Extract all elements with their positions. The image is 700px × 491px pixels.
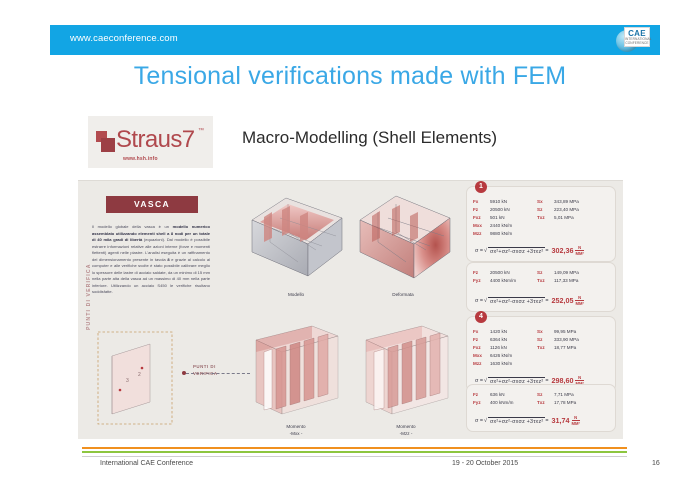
unit-denominator: MM² xyxy=(572,420,580,426)
radical-icon: √ xyxy=(484,248,487,254)
value-key: Sz xyxy=(537,391,554,399)
result-values-1: Fx5910 kN Sx343,89 MPa Fz20500 kN Sz223,… xyxy=(473,198,611,237)
value-key: Mzz xyxy=(473,230,490,238)
desc-part-1: Il modello globale della vasca è un xyxy=(92,224,173,229)
value-row: Fxz501 kN Txz5,01 MPa xyxy=(473,214,611,222)
formula-equals: = xyxy=(545,378,548,384)
value-key: Fxz xyxy=(473,214,490,222)
value-key: Txz xyxy=(537,277,554,285)
footer-page-number: 16 xyxy=(652,460,660,467)
formula-lhs: σ = xyxy=(475,418,483,424)
result-formula-4: σ = √ σx²+σz²-σxσz +3τxz² = 31,74 N MM² xyxy=(475,416,611,426)
value-number: 343,89 MPa xyxy=(554,198,579,206)
value-number: 17,78 MPa xyxy=(554,399,576,407)
value-number: 20500 kN xyxy=(490,206,510,214)
brand-website: www.hsh.info xyxy=(123,156,158,162)
footer-rule-green xyxy=(82,451,627,453)
value-key: Fz xyxy=(473,206,490,214)
value-number: 1126 kN xyxy=(490,344,507,352)
value-number: 18,77 MPa xyxy=(554,344,576,352)
value-key: Sx xyxy=(537,328,554,336)
value-row: Mxx2440 kN/m xyxy=(473,222,611,230)
value-row: Mzz1630 kN/m xyxy=(473,360,611,368)
cae-logo-box: CAE INTERNATIONAL CONFERENCE xyxy=(624,27,650,47)
unit-denominator: MM² xyxy=(575,300,583,306)
value-row: Fyz4400 kNm/m Txz117,33 MPa xyxy=(473,277,611,285)
formula-radicand: σx²+σz²-σxσz +3τxz² xyxy=(488,417,545,425)
value-row: Mxx6426 kN/m xyxy=(473,352,611,360)
value-key: Sz xyxy=(537,269,554,277)
caption-line-2: -Mxx - xyxy=(290,431,303,436)
figure-model-caption: Modello xyxy=(246,292,346,299)
footer-rule-gray xyxy=(82,456,627,457)
value-number: 333,90 MPa xyxy=(554,336,579,344)
straus7-logo: Straus7 ™ www.hsh.info xyxy=(88,116,213,168)
figure-moment-mzz-caption: Momento -Mzz - xyxy=(360,424,452,438)
schematic-diagram: 3 2 xyxy=(96,330,174,426)
value-key: Mxx xyxy=(473,352,490,360)
formula-lhs: σ = xyxy=(475,248,483,254)
slide: www.caeconference.com CAE INTERNATIONAL … xyxy=(0,0,700,491)
callout-punti-verifica: PUNTI DI VERIFICA xyxy=(193,364,218,377)
value-key: Sz xyxy=(537,336,554,344)
callout-line-1: PUNTI DI xyxy=(193,364,216,369)
caption-line-1: Modello xyxy=(288,292,304,297)
value-number: 5,01 MPa xyxy=(554,214,574,222)
formula-equals: = xyxy=(545,248,548,254)
value-number: 117,33 MPa xyxy=(554,277,578,285)
value-key: Fx xyxy=(473,328,490,336)
value-number: 6364 kN xyxy=(490,336,507,344)
caption-line-2: -Mzz - xyxy=(400,431,413,436)
svg-text:2: 2 xyxy=(138,372,141,378)
value-number: 501 kN xyxy=(490,214,505,222)
formula-equals: = xyxy=(545,298,548,304)
value-number: 223,40 MPa xyxy=(554,206,579,214)
header-bar: www.caeconference.com CAE INTERNATIONAL … xyxy=(50,25,660,55)
value-key: Sx xyxy=(537,198,554,206)
value-number: 6426 kN/m xyxy=(490,352,512,360)
cae-logo: CAE INTERNATIONAL CONFERENCE xyxy=(616,27,650,53)
logo-square-dark xyxy=(101,138,115,152)
vasca-badge: VASCA xyxy=(106,196,198,213)
value-key: Txz xyxy=(537,214,554,222)
value-number: 149,09 MPa xyxy=(554,269,579,277)
result-values-2: Fz20500 kN Sz149,09 MPa Fyz4400 kNm/m Tx… xyxy=(473,269,611,285)
value-number: 5910 kN xyxy=(490,198,507,206)
value-key: Sz xyxy=(537,206,554,214)
formula-equals: = xyxy=(545,418,548,424)
footer-date: 19 - 20 October 2015 xyxy=(452,460,518,467)
radical-icon: √ xyxy=(484,378,487,384)
result-box-2: Fz20500 kN Sz149,09 MPa Fyz4400 kNm/m Tx… xyxy=(466,262,616,312)
figure-moment-mxx-caption: Momento -Mxx - xyxy=(250,424,342,438)
formula-lhs: σ = xyxy=(475,298,483,304)
result-formula-2: σ = √ σx²+σz²-σxσz +3τxz² = 252,05 N MM² xyxy=(475,296,611,306)
value-key: Fz xyxy=(473,391,490,399)
brand-name: Straus7 xyxy=(116,126,195,154)
formula-radicand: σx²+σz²-σxσz +3τxz² xyxy=(488,297,545,305)
value-number: 1630 kN/m xyxy=(490,360,512,368)
figure-deformed xyxy=(352,190,454,286)
formula-result: 252,05 xyxy=(552,296,574,305)
footer-rule-orange xyxy=(82,447,627,449)
value-number: 636 kN xyxy=(490,391,505,399)
value-key: Mzz xyxy=(473,360,490,368)
value-key: Fz xyxy=(473,269,490,277)
value-number: 2440 kN/m xyxy=(490,222,512,230)
value-row: Fz20500 kN Sz149,09 MPa xyxy=(473,269,611,277)
result-values-4: Fz636 kN Sz7,71 MPa Fyz400 kNm/m Txz17,7… xyxy=(473,391,611,407)
value-key: Fyz xyxy=(473,277,490,285)
formula-unit: N MM² xyxy=(575,296,583,306)
cae-logo-subtitle: INTERNATIONAL CONFERENCE xyxy=(625,37,649,45)
result-values-3: Fx1420 kN Sx99,95 MPa Fz6364 kN Sz333,90… xyxy=(473,328,611,367)
conference-url[interactable]: www.caeconference.com xyxy=(70,33,178,44)
value-number: 4400 kNm/m xyxy=(490,277,516,285)
value-key: Fz xyxy=(473,336,490,344)
vasca-description: Il modello globale della vasca è un mode… xyxy=(92,224,210,296)
unit-numerator: N xyxy=(578,295,581,300)
radical-icon: √ xyxy=(484,418,487,424)
caption-line-1: Deformata xyxy=(392,292,413,297)
value-row: Fz636 kN Sz7,71 MPa xyxy=(473,391,611,399)
value-number: 20500 kN xyxy=(490,269,510,277)
figure-moment-mxx xyxy=(250,322,342,422)
value-key: Mxx xyxy=(473,222,490,230)
value-row: Fz20500 kN Sz223,40 MPa xyxy=(473,206,611,214)
result-formula-1: σ = √ σx²+σz²-σxσz +3τxz² = 302,36 N MM² xyxy=(475,246,611,256)
figure-model xyxy=(246,192,346,284)
value-row: Fyz400 kNm/m Txz17,78 MPa xyxy=(473,399,611,407)
caption-line-1: Momento xyxy=(286,424,305,429)
value-key: Txz xyxy=(537,399,554,407)
value-row: Fx5910 kN Sx343,89 MPa xyxy=(473,198,611,206)
result-box-4: Fz636 kN Sz7,71 MPa Fyz400 kNm/m Txz17,7… xyxy=(466,384,616,432)
formula-result: 31,74 xyxy=(552,416,570,425)
formula-result: 302,36 xyxy=(552,246,574,255)
value-number: 1420 kN xyxy=(490,328,507,336)
value-row: Fx1420 kN Sx99,95 MPa xyxy=(473,328,611,336)
formula-unit: N MM² xyxy=(575,246,583,256)
formula-unit: N MM² xyxy=(572,416,580,426)
result-badge-3: 4 xyxy=(475,311,487,323)
figure-moment-mzz xyxy=(360,322,452,422)
radical-icon: √ xyxy=(484,298,487,304)
figure-deformed-caption: Deformata xyxy=(352,292,454,299)
unit-numerator: N xyxy=(578,375,581,380)
page-title: Tensional verifications made with FEM xyxy=(0,62,700,91)
value-number: 99,95 MPa xyxy=(554,328,576,336)
result-box-1: 1 Fx5910 kN Sx343,89 MPa Fz20500 kN Sz22… xyxy=(466,186,616,262)
value-key: Fx xyxy=(473,198,490,206)
section-subtitle: Macro-Modelling (Shell Elements) xyxy=(242,128,497,148)
trademark-icon: ™ xyxy=(198,128,204,134)
value-row: Fxz1126 kN Txz18,77 MPa xyxy=(473,344,611,352)
callout-line-2: VERIFICA xyxy=(193,371,218,376)
unit-numerator: N xyxy=(578,245,581,250)
value-row: Mzz9880 kN/m xyxy=(473,230,611,238)
unit-denominator: MM² xyxy=(575,250,583,256)
value-number: 7,71 MPa xyxy=(554,391,574,399)
formula-lhs: σ = xyxy=(475,378,483,384)
result-badge-1: 1 xyxy=(475,181,487,193)
unit-numerator: N xyxy=(574,415,577,420)
value-key: Txz xyxy=(537,344,554,352)
result-box-3: 4 Fx1420 kN Sx99,95 MPa Fz6364 kN Sz333,… xyxy=(466,316,616,392)
value-key: Fyz xyxy=(473,399,490,407)
svg-text:3: 3 xyxy=(126,378,129,384)
formula-radicand: σx²+σz²-σxσz +3τxz² xyxy=(488,247,545,255)
desc-part-3: e grazie al calcolo al computer e alle v… xyxy=(92,257,210,295)
caption-line-1: Momento xyxy=(396,424,415,429)
value-row: Fz6364 kN Sz333,90 MPa xyxy=(473,336,611,344)
footer-conference-name: International CAE Conference xyxy=(100,460,193,467)
value-number: 400 kNm/m xyxy=(490,399,514,407)
value-number: 9880 kN/m xyxy=(490,230,512,238)
value-key: Fxz xyxy=(473,344,490,352)
